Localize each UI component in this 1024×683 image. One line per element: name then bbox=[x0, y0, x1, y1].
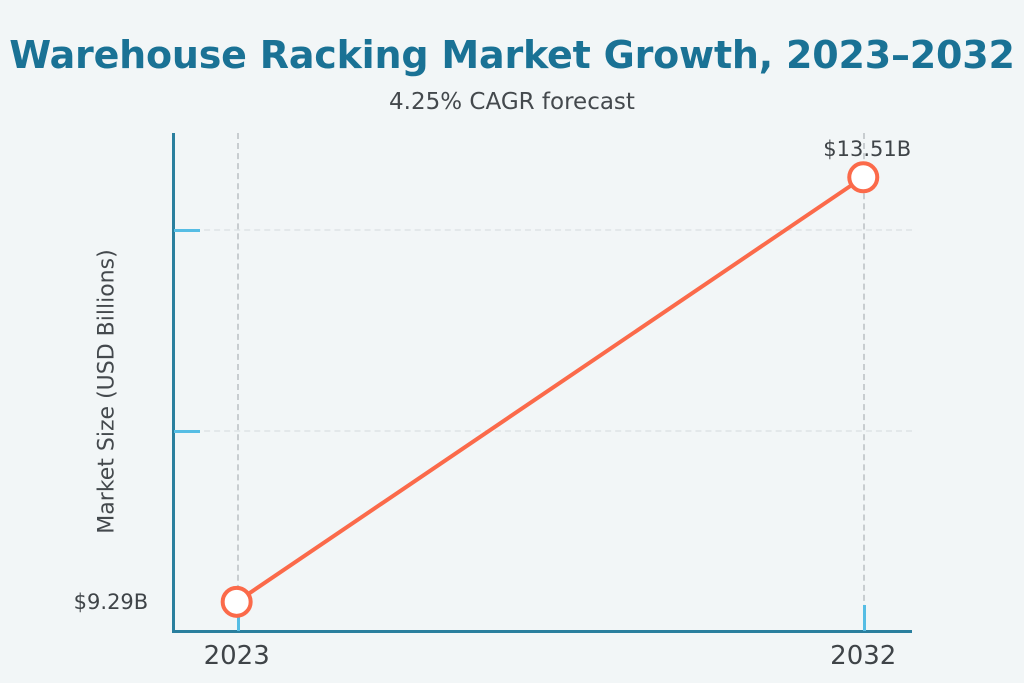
y-axis-title: Market Size (USD Billions) bbox=[95, 182, 120, 602]
x-tick-label-2023: 2023 bbox=[157, 641, 317, 671]
data-label-2023: $9.29B bbox=[74, 590, 149, 614]
chart-title: Warehouse Racking Market Growth, 2023–20… bbox=[0, 33, 1024, 77]
chart-subtitle: 4.25% CAGR forecast bbox=[0, 89, 1024, 115]
chart-container: Warehouse Racking Market Growth, 2023–20… bbox=[0, 0, 1024, 683]
data-label-2032: $13.51B bbox=[823, 137, 911, 161]
series-line-segment bbox=[237, 177, 864, 602]
plot-area: 13 11 9 2023 2032 $9.29B $13.51B bbox=[174, 133, 912, 631]
data-point-marker-2032[interactable] bbox=[849, 163, 877, 191]
data-series bbox=[174, 133, 912, 631]
x-tick-label-2032: 2032 bbox=[783, 641, 943, 671]
data-point-marker-2023[interactable] bbox=[223, 588, 251, 616]
